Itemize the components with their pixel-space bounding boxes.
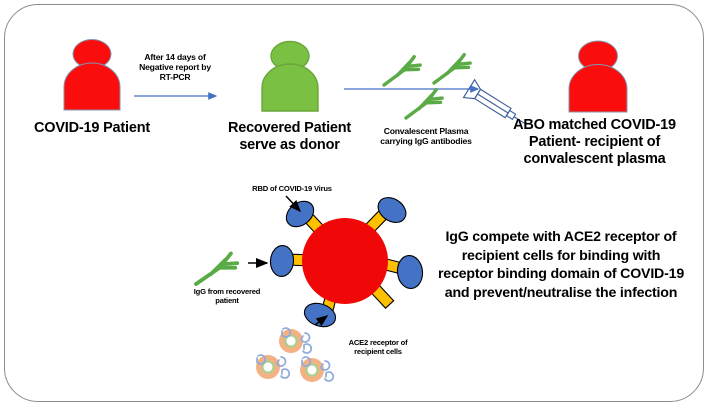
ace2-cell-icon [279,328,311,353]
caption-convalescent-plasma: Convalescent Plasma carrying IgG antibod… [352,126,500,146]
antibody-cluster-icon [381,54,471,118]
label-ace2: ACE2 receptor of recipient cells [326,339,430,357]
ace2-cell-icon-group [256,328,333,382]
antibody-icon-igg-recovered [194,253,238,284]
person-icon-recovered-patient [262,42,318,112]
arrow-14-days-label: After 14 days of Negative report by RT-P… [120,52,230,82]
ace2-cell-icon [300,357,333,382]
person-icon-recipient-patient [569,41,627,112]
caption-recovered-patient: Recovered Patient serve as donor [212,120,367,154]
explanation-text: IgG compete with ACE2 receptor of recipi… [418,228,704,303]
label-igg-recovered: IgG from recovered patient [166,288,288,306]
ace2-cell-icon [256,355,289,379]
covid-virus-icon [269,192,424,330]
caption-recipient-patient: ABO matched COVID-19 Patient- recipient … [487,117,702,168]
person-icon-covid-patient [64,40,120,111]
caption-covid-patient: COVID-19 Patient [22,120,162,137]
label-rbd: RBD of COVID-19 Virus [228,185,356,194]
